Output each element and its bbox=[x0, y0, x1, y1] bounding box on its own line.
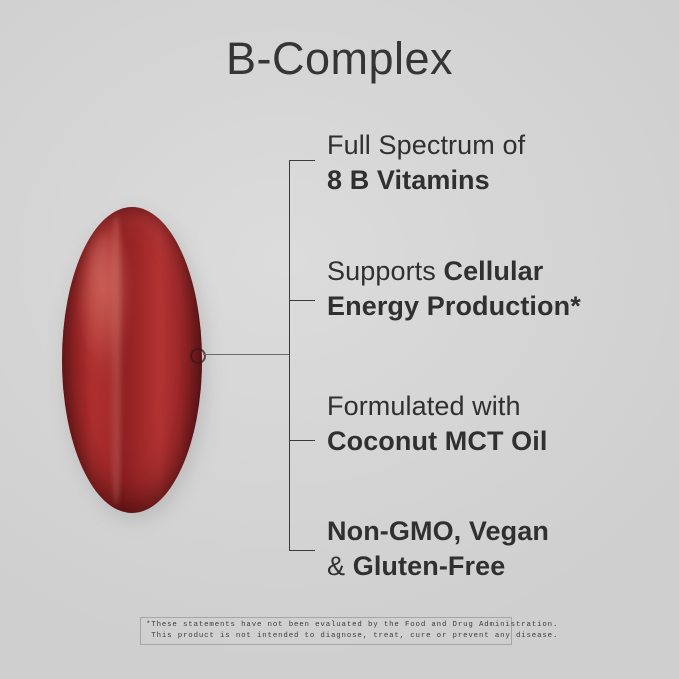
disclaimer-text: *These statements have not been evaluate… bbox=[141, 620, 558, 642]
feature-4-line-1: Non-GMO, Vegan bbox=[327, 514, 657, 549]
callout-spine-line bbox=[289, 160, 290, 550]
feature-item-3: Formulated with Coconut MCT Oil bbox=[327, 389, 657, 459]
feature-4-line-2: & Gluten-Free bbox=[327, 549, 657, 584]
callout-point-icon bbox=[190, 348, 206, 364]
page-title: B-Complex bbox=[0, 34, 679, 84]
callout-tick-3 bbox=[289, 440, 315, 441]
leader-line-horizontal bbox=[203, 354, 290, 355]
callout-tick-4 bbox=[289, 550, 315, 551]
feature-item-4: Non-GMO, Vegan & Gluten-Free bbox=[327, 514, 657, 584]
feature-4-line-2-bold: Gluten-Free bbox=[353, 551, 506, 581]
callout-tick-2 bbox=[289, 300, 315, 301]
capsule-rim-shading bbox=[62, 207, 202, 513]
feature-1-line-1: Full Spectrum of bbox=[327, 128, 657, 163]
feature-4-line-2-regular: & bbox=[327, 551, 353, 581]
callout-tick-1 bbox=[289, 160, 315, 161]
feature-2-line-1: Supports Cellular bbox=[327, 254, 657, 289]
feature-2-line-2: Energy Production* bbox=[327, 289, 657, 324]
feature-1-line-2: 8 B Vitamins bbox=[327, 163, 657, 198]
feature-2-line-1-bold: Cellular bbox=[443, 256, 543, 286]
feature-2-line-1-regular: Supports bbox=[327, 256, 443, 286]
disclaimer-box: *These statements have not been evaluate… bbox=[140, 617, 512, 645]
product-infographic: B-Complex Full Spectrum of 8 B Vitamins … bbox=[0, 0, 679, 679]
feature-3-line-2: Coconut MCT Oil bbox=[327, 424, 657, 459]
feature-3-line-1: Formulated with bbox=[327, 389, 657, 424]
feature-item-2: Supports Cellular Energy Production* bbox=[327, 254, 657, 324]
softgel-capsule bbox=[62, 207, 202, 514]
feature-item-1: Full Spectrum of 8 B Vitamins bbox=[327, 128, 657, 198]
